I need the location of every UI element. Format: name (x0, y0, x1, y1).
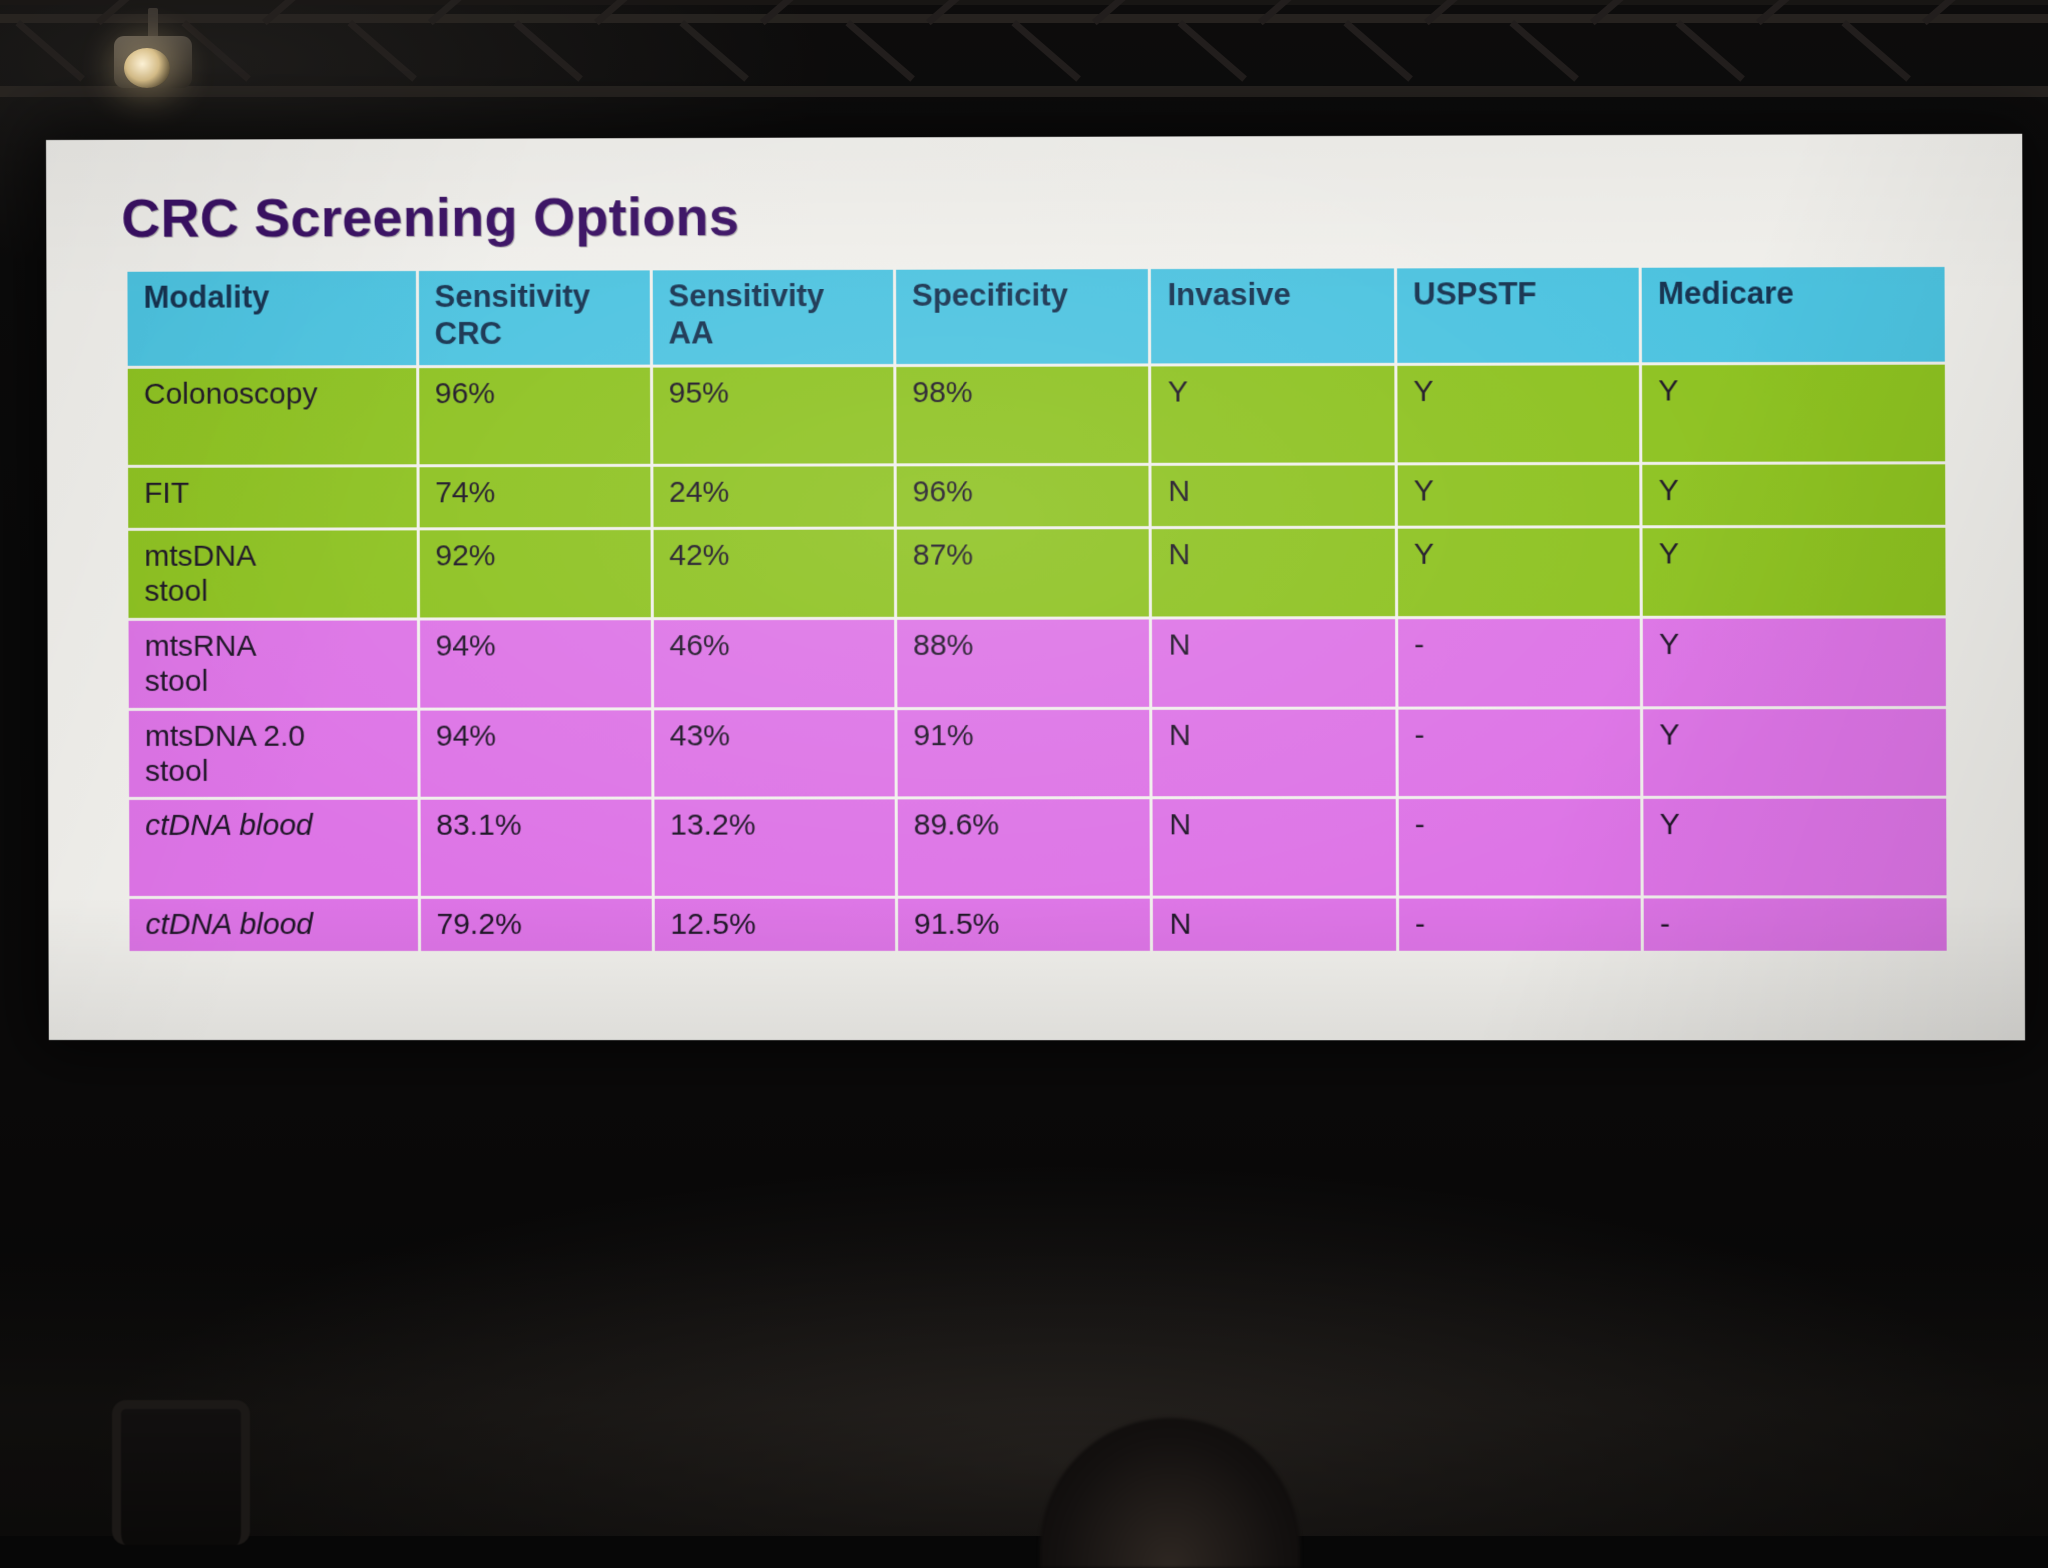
cell-uspstf: - (1398, 799, 1640, 896)
cell-invasive: Y (1152, 366, 1395, 463)
header-line-1: Sensitivity (668, 278, 878, 315)
column-header-modality: Modality (127, 271, 415, 366)
cell-specificity: 88% (897, 619, 1150, 706)
table-row: ctDNA blood 83.1% 13.2% 89.6% N - Y (129, 799, 1946, 896)
header-line-1: Medicare (1658, 275, 1931, 313)
cell-sensitivity-crc: 94% (420, 710, 651, 797)
cell-sensitivity-aa: 12.5% (654, 899, 895, 951)
header-line-1: Modality (143, 279, 401, 316)
cell-modality: Colonoscopy (128, 368, 416, 465)
modality-line-2: stool (145, 754, 403, 790)
table-header-row: Modality Sensitivity CRC Sensitivity AA (127, 267, 1944, 366)
header-line-2: CRC (435, 315, 636, 352)
page-title: CRC Screening Options (121, 186, 739, 250)
modality-line-1: mtsDNA (144, 538, 402, 574)
cell-modality: FIT (128, 467, 416, 528)
modality-line-1: ctDNA blood (145, 808, 403, 844)
table-row: FIT 74% 24% 96% N Y Y (128, 464, 1945, 528)
cell-specificity: 98% (896, 366, 1149, 463)
cell-uspstf: - (1398, 709, 1640, 796)
column-header-sensitivity-crc: Sensitivity CRC (418, 270, 649, 365)
cell-sensitivity-crc: 79.2% (420, 899, 651, 951)
column-header-medicare: Medicare (1642, 267, 1945, 362)
column-header-uspstf: USPSTF (1397, 268, 1639, 363)
cell-uspstf: - (1398, 619, 1640, 707)
floor-glow (0, 1250, 2048, 1536)
table-row: Colonoscopy 96% 95% 98% Y Y Y (128, 365, 1945, 465)
cell-sensitivity-aa: 24% (653, 466, 894, 527)
cell-medicare: Y (1643, 709, 1946, 797)
cell-uspstf: Y (1397, 365, 1639, 462)
modality-line-1: Colonoscopy (144, 376, 402, 412)
cell-invasive: N (1153, 709, 1396, 796)
cell-specificity: 96% (896, 466, 1149, 527)
cell-sensitivity-aa: 42% (653, 530, 894, 617)
header-line-1: Invasive (1167, 277, 1379, 314)
cell-sensitivity-crc: 74% (419, 467, 650, 528)
modality-line-1: ctDNA blood (145, 907, 403, 942)
chair-silhouette (112, 1400, 250, 1545)
cell-sensitivity-crc: 94% (420, 620, 651, 707)
cell-uspstf: Y (1397, 465, 1639, 526)
cell-uspstf: Y (1398, 528, 1640, 616)
cell-sensitivity-crc: 83.1% (420, 800, 651, 896)
cell-modality: mtsDNA 2.0 stool (129, 710, 417, 797)
cell-sensitivity-aa: 95% (653, 367, 894, 464)
table-row: mtsRNA stool 94% 46% 88% N - Y (129, 618, 1946, 707)
column-header-invasive: Invasive (1151, 268, 1394, 363)
cell-invasive: N (1153, 899, 1396, 951)
modality-line-2: stool (144, 574, 402, 610)
auditorium-background: CRC Screening Options Modality Sensitivi… (0, 0, 2048, 1536)
modality-line-2: stool (145, 664, 403, 700)
cell-medicare: Y (1642, 365, 1945, 462)
cell-modality: ctDNA blood (129, 899, 417, 951)
lighting-truss (0, 0, 2048, 120)
table-row: mtsDNA stool 92% 42% 87% N Y Y (128, 528, 1945, 618)
cell-sensitivity-aa: 46% (653, 620, 894, 707)
table-row: mtsDNA 2.0 stool 94% 43% 91% N - Y (129, 709, 1946, 798)
modality-line-1: mtsDNA 2.0 (145, 718, 403, 754)
cell-specificity: 87% (897, 529, 1150, 616)
cell-invasive: N (1152, 529, 1395, 617)
header-line-1: Sensitivity (434, 278, 635, 315)
presentation-slide: CRC Screening Options Modality Sensitivi… (46, 134, 2025, 1041)
stage-spotlight-icon (108, 8, 200, 104)
cell-medicare: - (1644, 899, 1947, 951)
cell-uspstf: - (1399, 899, 1641, 951)
cell-medicare: Y (1643, 799, 1946, 896)
table-row: ctDNA blood 79.2% 12.5% 91.5% N - - (129, 899, 1946, 951)
cell-specificity: 91% (897, 709, 1150, 796)
cell-medicare: Y (1642, 464, 1945, 525)
header-line-1: USPSTF (1413, 276, 1625, 313)
header-line-1: Specificity (912, 277, 1134, 314)
cell-sensitivity-aa: 13.2% (654, 800, 895, 896)
cell-invasive: N (1153, 799, 1396, 896)
cell-modality: mtsDNA stool (128, 530, 416, 617)
cell-modality: ctDNA blood (129, 800, 417, 896)
cell-modality: mtsRNA stool (129, 620, 417, 707)
projection-screen: CRC Screening Options Modality Sensitivi… (46, 134, 2025, 1041)
cell-specificity: 91.5% (898, 899, 1151, 951)
header-line-2: AA (668, 315, 878, 352)
cell-specificity: 89.6% (897, 800, 1150, 896)
cell-invasive: N (1152, 465, 1395, 526)
cell-sensitivity-crc: 96% (419, 368, 650, 465)
cell-medicare: Y (1642, 528, 1945, 616)
modality-line-1: FIT (144, 475, 402, 511)
cell-medicare: Y (1643, 618, 1946, 706)
cell-sensitivity-crc: 92% (419, 530, 650, 617)
crc-screening-table: Modality Sensitivity CRC Sensitivity AA (124, 264, 1949, 954)
column-header-sensitivity-aa: Sensitivity AA (652, 270, 893, 365)
modality-line-1: mtsRNA (145, 628, 403, 664)
cell-invasive: N (1152, 619, 1395, 706)
cell-sensitivity-aa: 43% (654, 710, 895, 797)
column-header-specificity: Specificity (896, 269, 1149, 364)
